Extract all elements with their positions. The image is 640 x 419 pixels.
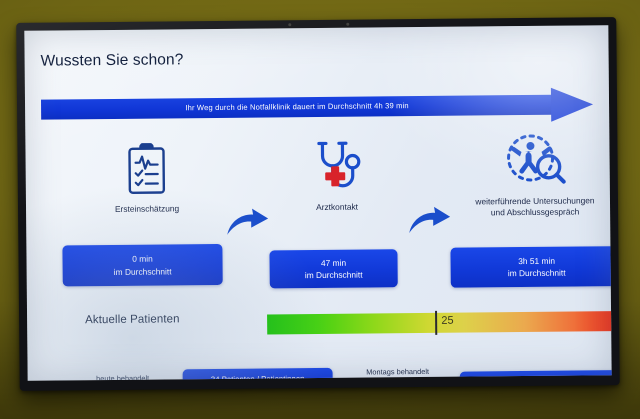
stat-box-untersuchungen: 3h 51 min im Durchschnitt (450, 246, 611, 288)
counter-label-line1: Montags behandelt (366, 367, 429, 377)
photo-scene: Wussten Sie schon? Ihr Weg durch die Not… (0, 0, 640, 419)
counter-box-heute: 34 Patienten / Patientinnen (183, 368, 333, 381)
stat-value: 47 min (321, 257, 346, 269)
clipboard-ecg-icon (83, 137, 210, 200)
patient-magnifier-icon (455, 129, 611, 193)
journey-banner: Ihr Weg durch die Notfallklinik dauert i… (41, 87, 593, 126)
step-label: weiterführende Untersuchungen und Abschl… (456, 195, 612, 219)
slide-content: Wussten Sie schon? Ihr Weg durch die Not… (24, 25, 611, 381)
stat-caption: im Durchschnitt (508, 267, 566, 280)
stat-box-arztkontakt: 47 min im Durchschnitt (269, 249, 397, 288)
screen: Wussten Sie schon? Ihr Weg durch die Not… (24, 25, 611, 381)
stat-caption: im Durchschnitt (114, 265, 172, 278)
banner-text: Ihr Weg durch die Notfallklinik dauert i… (41, 95, 553, 120)
stat-value: 3h 51 min (518, 255, 555, 268)
curved-arrow-icon-2 (406, 205, 452, 239)
stat-value: 0 min (132, 253, 153, 265)
stethoscope-cross-icon (273, 135, 400, 198)
step-arztkontakt: Arztkontakt (273, 135, 400, 214)
step-label-line1: weiterführende Untersuchungen (475, 195, 594, 206)
gauge-value: 25 (441, 315, 453, 327)
step-label: Ersteinschätzung (84, 203, 210, 216)
counter-label-heute: heute behandelt (78, 373, 168, 380)
stat-box-ersteinschaetzung: 0 min im Durchschnitt (62, 244, 222, 287)
curved-arrow-icon-1 (224, 206, 270, 240)
stat-caption: im Durchschnitt (305, 269, 363, 282)
current-patients-gauge: 25 (267, 311, 612, 334)
step-label-line2: und Abschlussgespräch (491, 207, 580, 218)
step-untersuchungen: weiterführende Untersuchungen und Abschl… (455, 129, 611, 219)
step-label: Arztkontakt (274, 201, 400, 214)
counter-box-montags: 151 Patienten / Patientinnen (460, 370, 612, 381)
counter-label-montags: Montags behandelt im Durchschnitt (348, 367, 448, 381)
step-ersteinschaetzung: Ersteinschätzung (83, 137, 210, 216)
bezel-sensor-left (288, 23, 291, 26)
counter-label-line2: im Durchschnitt (372, 377, 423, 380)
gauge-marker (435, 311, 437, 335)
right-arrow-banner-icon (551, 87, 593, 121)
page-title: Wussten Sie schon? (41, 51, 184, 70)
tv-display: Wussten Sie schon? Ihr Weg durch die Not… (16, 17, 620, 391)
gauge-gradient-bar (267, 311, 612, 334)
gauge-label: Aktuelle Patienten (85, 313, 180, 326)
bezel-sensor-right (346, 23, 349, 26)
